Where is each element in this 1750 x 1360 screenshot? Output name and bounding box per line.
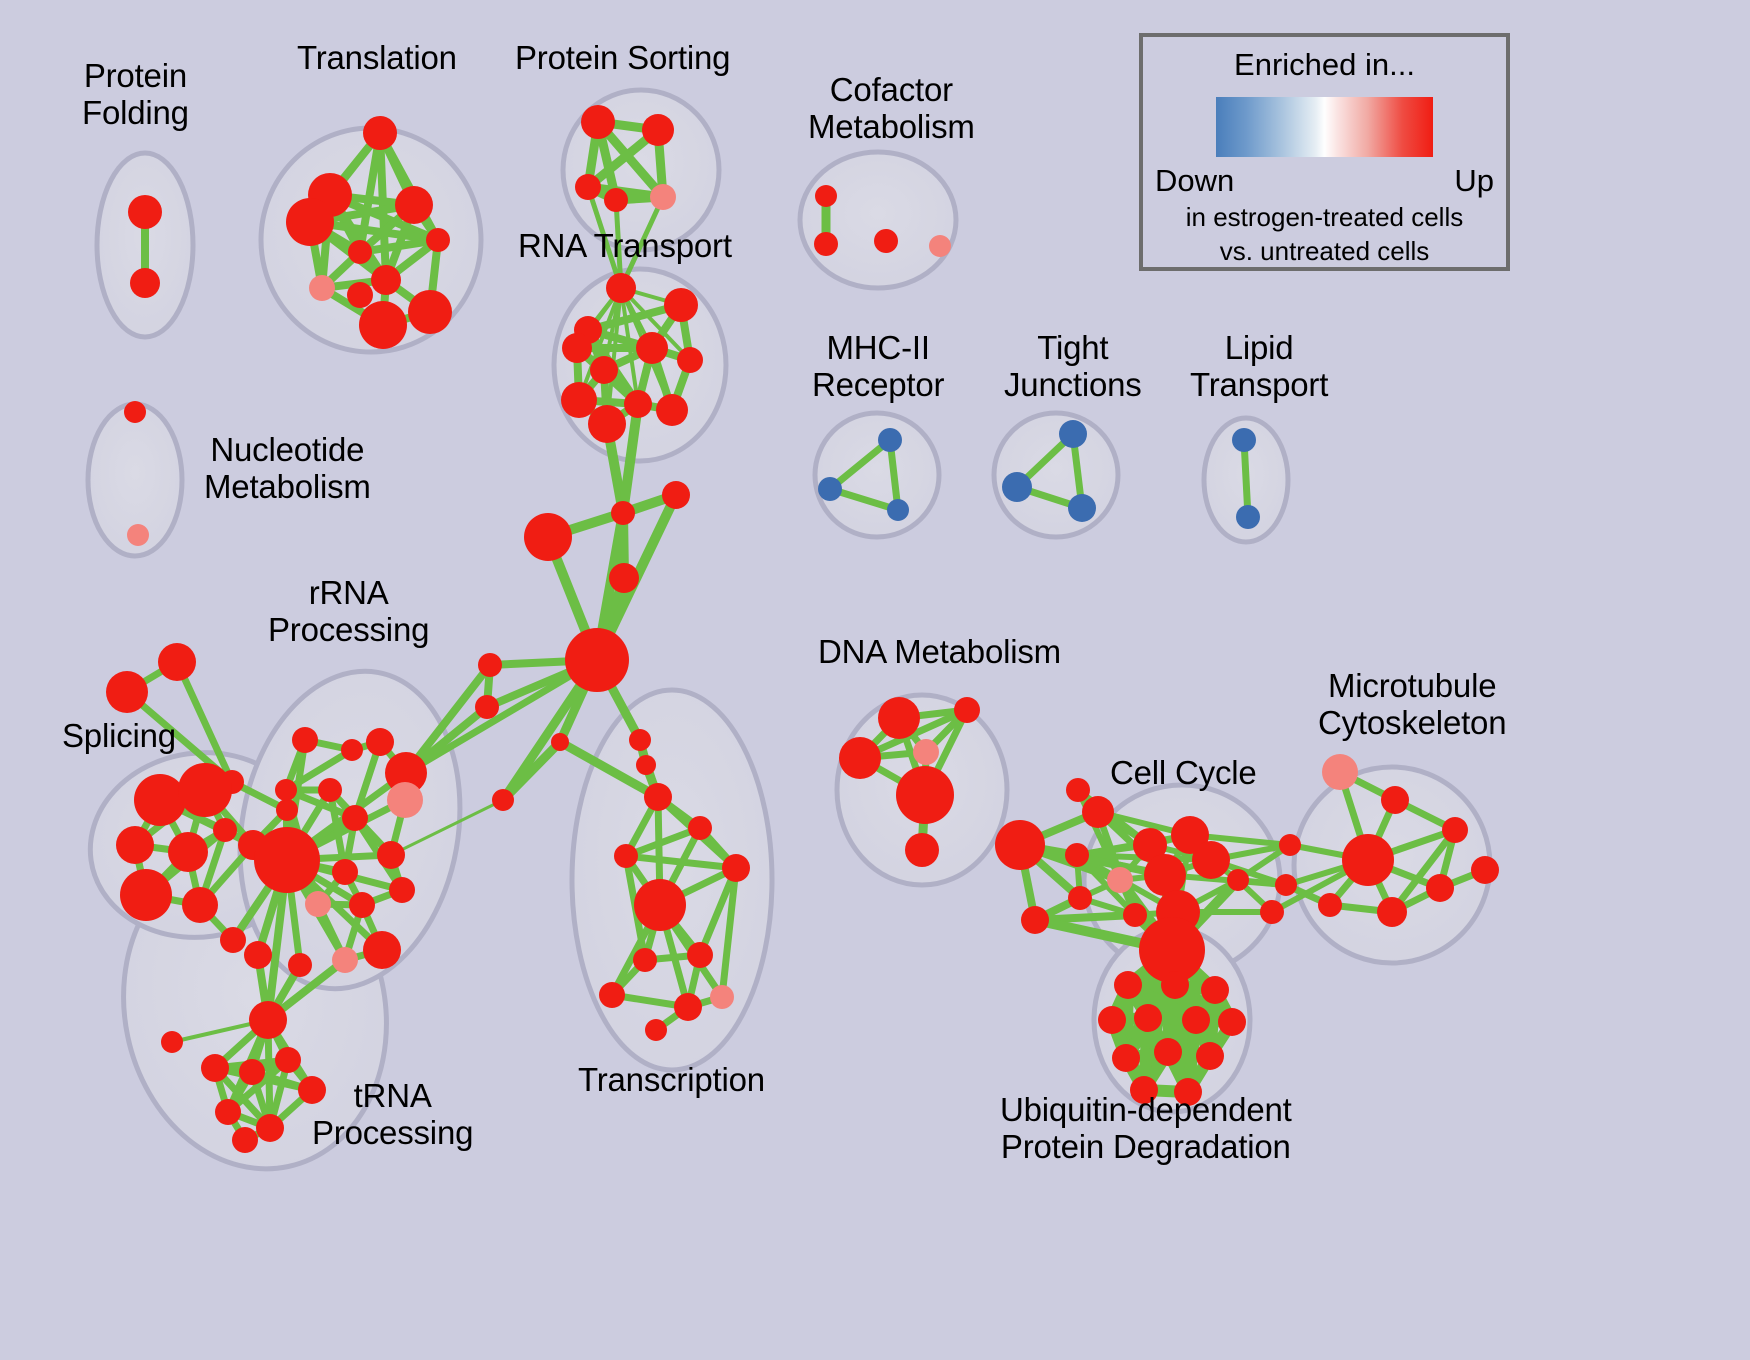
node [815, 185, 837, 207]
node [878, 428, 902, 452]
node [1114, 971, 1142, 999]
legend-subtitle-line2: vs. untreated cells [1143, 237, 1506, 267]
node [604, 188, 628, 212]
node [363, 116, 397, 150]
node [292, 727, 318, 753]
node [814, 232, 838, 256]
node [1082, 796, 1114, 828]
node [664, 288, 698, 322]
node [634, 879, 686, 931]
node [1426, 874, 1454, 902]
node [1318, 893, 1342, 917]
node [687, 942, 713, 968]
node [342, 805, 368, 831]
cluster-label-protein-sorting: Protein Sorting [515, 40, 730, 77]
legend-box: Enriched in... Down Up in estrogen-treat… [1139, 33, 1510, 271]
node [614, 844, 638, 868]
cluster-label-splicing: Splicing [62, 718, 176, 755]
node [127, 524, 149, 546]
node [905, 833, 939, 867]
node [1377, 897, 1407, 927]
node [629, 729, 651, 751]
cluster-label-rna-transport: RNA Transport [518, 228, 732, 265]
node [677, 347, 703, 373]
node [347, 282, 373, 308]
cluster-label-transcription: Transcription [578, 1062, 765, 1099]
node [124, 401, 146, 423]
node [1066, 778, 1090, 802]
cluster-label-tight-junctions: Tight Junctions [1004, 330, 1142, 404]
cluster-label-mhc-ii-receptor: MHC-II Receptor [812, 330, 944, 404]
node [656, 394, 688, 426]
node [276, 799, 298, 821]
node [995, 820, 1045, 870]
node [551, 733, 569, 751]
node [1002, 472, 1032, 502]
node [239, 1059, 265, 1085]
node [134, 774, 186, 826]
node [624, 390, 652, 418]
node [929, 235, 951, 257]
node [561, 382, 597, 418]
node [874, 229, 898, 253]
node [575, 174, 601, 200]
node [1442, 817, 1468, 843]
node [710, 985, 734, 1009]
node [1196, 1042, 1224, 1070]
cluster-label-nucleotide-metabolism: Nucleotide Metabolism [204, 432, 371, 506]
node [116, 826, 154, 864]
node [1123, 903, 1147, 927]
node [688, 816, 712, 840]
cluster-label-trna-processing: tRNA Processing [312, 1078, 473, 1152]
node [606, 273, 636, 303]
node [332, 947, 358, 973]
node [636, 332, 668, 364]
network-figure: Protein Folding Translation Protein Sort… [0, 0, 1750, 1360]
node [244, 941, 272, 969]
node [562, 333, 592, 363]
node [305, 891, 331, 917]
node [1275, 874, 1297, 896]
node [363, 931, 401, 969]
node [106, 671, 148, 713]
node [288, 953, 312, 977]
cluster-label-translation: Translation [297, 40, 457, 77]
node [232, 1127, 258, 1153]
cluster-label-dna-metabolism: DNA Metabolism [818, 634, 1061, 671]
node [220, 927, 246, 953]
node [256, 1114, 284, 1142]
node [387, 782, 423, 818]
node [201, 1054, 229, 1082]
node [395, 186, 433, 224]
node [588, 405, 626, 443]
node [599, 982, 625, 1008]
node [1068, 494, 1096, 522]
node [1021, 906, 1049, 934]
node [309, 275, 335, 301]
legend-title: Enriched in... [1143, 47, 1506, 83]
node [1279, 834, 1301, 856]
node [128, 195, 162, 229]
node [371, 265, 401, 295]
node [662, 481, 690, 509]
node [341, 739, 363, 761]
node [1227, 869, 1249, 891]
node [158, 643, 196, 681]
node [348, 240, 372, 264]
node [609, 563, 639, 593]
node [1059, 420, 1087, 448]
node [1134, 1004, 1162, 1032]
legend-subtitle-line1: in estrogen-treated cells [1143, 203, 1506, 233]
node [722, 854, 750, 882]
node [818, 477, 842, 501]
node [475, 695, 499, 719]
node [408, 290, 452, 334]
node [275, 779, 297, 801]
cluster-label-rrna-processing: rRNA Processing [268, 575, 429, 649]
node [1068, 886, 1092, 910]
cluster-label-lipid-transport: Lipid Transport [1190, 330, 1328, 404]
node [1381, 786, 1409, 814]
node [161, 1031, 183, 1053]
node [1112, 1044, 1140, 1072]
node [1218, 1008, 1246, 1036]
cluster-label-protein-folding: Protein Folding [82, 58, 189, 132]
node [1144, 854, 1186, 896]
legend-label-up: Up [1454, 163, 1494, 199]
node [178, 763, 232, 817]
node [478, 653, 502, 677]
node [215, 1099, 241, 1125]
node [182, 887, 218, 923]
node [1342, 834, 1394, 886]
node [611, 501, 635, 525]
node [286, 198, 334, 246]
node [878, 697, 920, 739]
cluster-label-ubiquitin-protein-degradation: Ubiquitin-dependent Protein Degradation [1000, 1092, 1292, 1166]
node [1161, 971, 1189, 999]
node [254, 827, 320, 893]
legend-color-gradient [1216, 97, 1433, 157]
node [887, 499, 909, 521]
node [275, 1047, 301, 1073]
node [120, 869, 172, 921]
node [642, 114, 674, 146]
node [839, 737, 881, 779]
node [1236, 505, 1260, 529]
node [168, 832, 208, 872]
cluster-label-cell-cycle: Cell Cycle [1110, 755, 1257, 792]
node [492, 789, 514, 811]
node [1471, 856, 1499, 884]
node [633, 948, 657, 972]
node [1201, 976, 1229, 1004]
node [332, 859, 358, 885]
node [1260, 900, 1284, 924]
node [366, 728, 394, 756]
node [581, 105, 615, 139]
node [1232, 428, 1256, 452]
node [249, 1001, 287, 1039]
cluster-label-microtubule-cytoskeleton: Microtubule Cytoskeleton [1318, 668, 1506, 742]
node [1322, 754, 1358, 790]
node [1098, 1006, 1126, 1034]
legend-label-down: Down [1155, 163, 1234, 199]
node [1065, 843, 1089, 867]
node [524, 513, 572, 561]
node [318, 778, 342, 802]
node [913, 739, 939, 765]
node [1107, 867, 1133, 893]
node [359, 301, 407, 349]
node [644, 783, 672, 811]
node [590, 356, 618, 384]
node [426, 228, 450, 252]
node [636, 755, 656, 775]
node [130, 268, 160, 298]
node [645, 1019, 667, 1041]
node [377, 841, 405, 869]
cluster-bubble-mhc-ii-receptor [815, 413, 939, 537]
node [674, 993, 702, 1021]
cluster-label-cofactor-metabolism: Cofactor Metabolism [808, 72, 975, 146]
node [650, 184, 676, 210]
node [1182, 1006, 1210, 1034]
node [565, 628, 629, 692]
node [213, 818, 237, 842]
node [1154, 1038, 1182, 1066]
node [349, 892, 375, 918]
node [954, 697, 980, 723]
node [1192, 841, 1230, 879]
node [896, 766, 954, 824]
node [389, 877, 415, 903]
